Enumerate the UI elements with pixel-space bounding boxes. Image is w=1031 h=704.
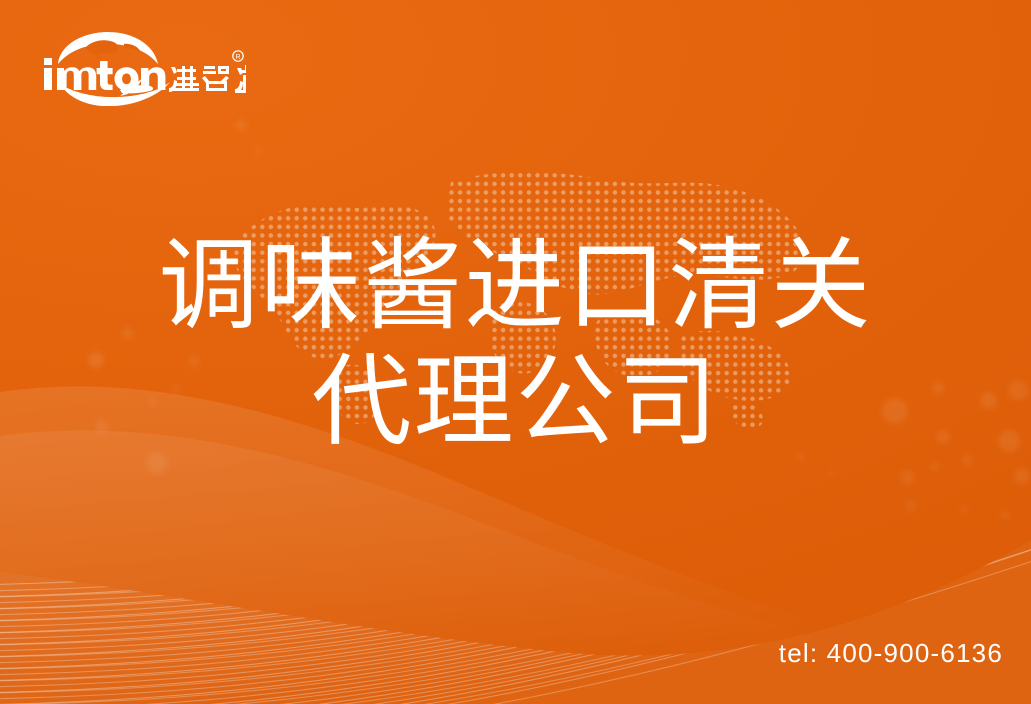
logo-wordmark-latin bbox=[44, 58, 165, 91]
headline-line-1: 调味酱进口清关 bbox=[0, 228, 1031, 344]
page-title: 调味酱进口清关 代理公司 bbox=[0, 228, 1031, 460]
promo-banner: R 调味酱进口清关 代理公司 tel: 400-900-6136 bbox=[0, 0, 1031, 704]
logo-wordmark-chinese bbox=[169, 65, 246, 93]
svg-text:R: R bbox=[235, 54, 240, 61]
imton-logo[interactable]: R bbox=[36, 28, 246, 106]
globe-icon bbox=[58, 32, 158, 64]
headline-line-2: 代理公司 bbox=[0, 344, 1031, 460]
trademark-icon: R bbox=[233, 51, 243, 61]
contact-phone[interactable]: tel: 400-900-6136 bbox=[779, 638, 1003, 669]
